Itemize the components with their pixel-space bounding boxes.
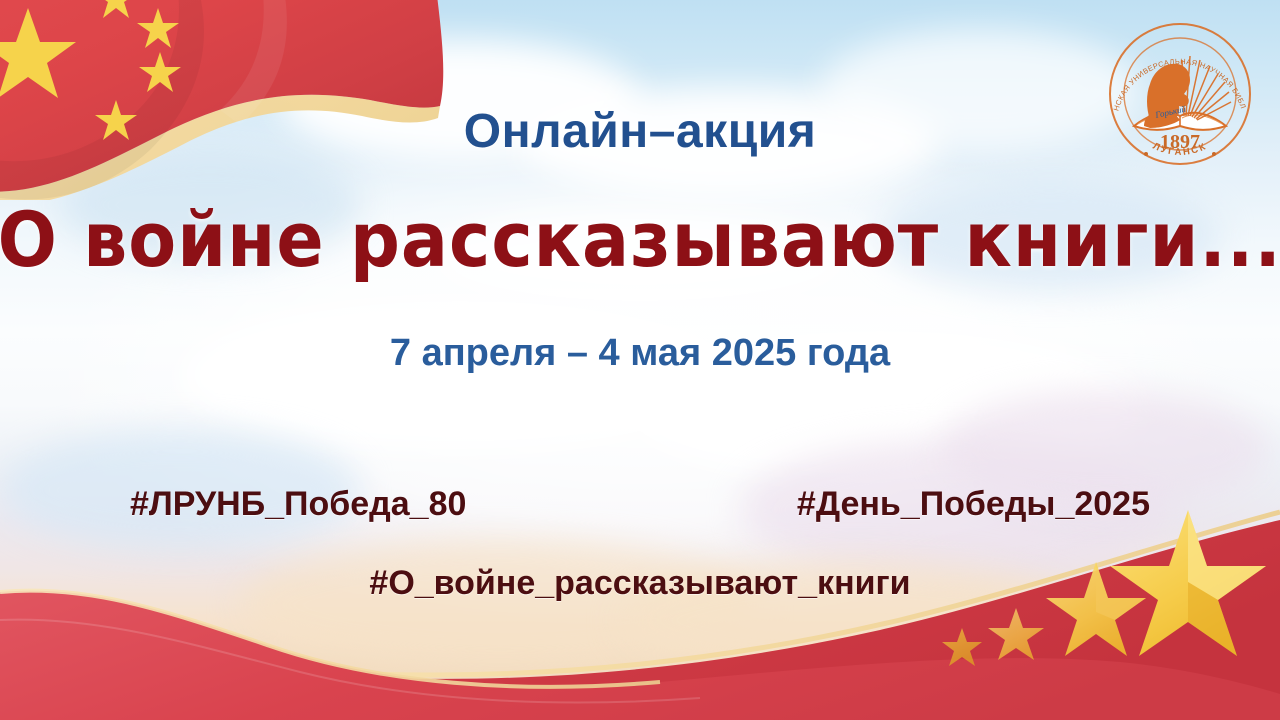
hashtag-den-pobedy-2025: #День_Победы_2025	[797, 485, 1150, 524]
kicker-title: Онлайн–акция	[464, 104, 816, 159]
poster-content: Онлайн–акция «О войне рассказывают книги…	[0, 0, 1280, 720]
poster-canvas: ЛУГАНСКАЯ РЕСПУБЛИКАНСКАЯ УНИВЕРСАЛЬНАЯ …	[0, 0, 1280, 720]
event-dates: 7 апреля – 4 мая 2025 года	[390, 332, 890, 375]
hashtag-row-bottom: #О_войне_рассказывают_книги	[0, 564, 1280, 603]
hashtag-lrunb-pobeda-80: #ЛРУНБ_Победа_80	[130, 485, 466, 524]
hashtag-o-voyne-rasskazyvayut-knigi: #О_войне_рассказывают_книги	[369, 564, 910, 603]
main-headline: «О войне рассказывают книги...»	[0, 195, 1280, 284]
hashtag-row-top: #ЛРУНБ_Победа_80 #День_Победы_2025	[110, 485, 1170, 524]
